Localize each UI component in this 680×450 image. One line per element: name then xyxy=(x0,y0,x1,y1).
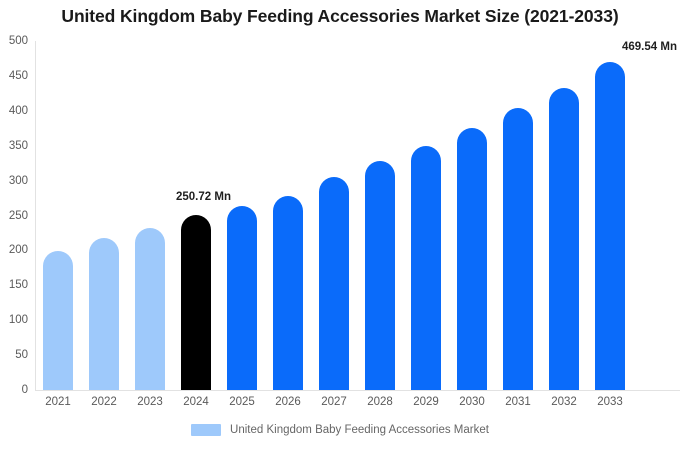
bar-2033[interactable] xyxy=(595,62,625,390)
y-tick-label: 100 xyxy=(0,314,28,326)
x-tick-label: 2022 xyxy=(81,396,127,408)
x-tick-label: 2033 xyxy=(587,396,633,408)
x-tick-label: 2032 xyxy=(541,396,587,408)
y-tick-label: 500 xyxy=(0,35,28,47)
legend-label: United Kingdom Baby Feeding Accessories … xyxy=(230,424,489,436)
bar-series: 2021202220232024202520262027202820292030… xyxy=(35,0,680,450)
bar-2028[interactable] xyxy=(365,161,395,390)
bar-group[interactable] xyxy=(35,0,81,390)
x-tick-label: 2021 xyxy=(35,396,81,408)
bar-2029[interactable] xyxy=(411,146,441,390)
bar-group[interactable] xyxy=(587,0,633,390)
bar-2032[interactable] xyxy=(549,88,579,390)
x-tick-label: 2028 xyxy=(357,396,403,408)
bar-2022[interactable] xyxy=(89,238,119,390)
legend-swatch-icon xyxy=(191,424,221,436)
bar-chart: United Kingdom Baby Feeding Accessories … xyxy=(0,0,680,450)
bar-group[interactable] xyxy=(403,0,449,390)
bar-group[interactable] xyxy=(357,0,403,390)
bar-2021[interactable] xyxy=(43,251,73,390)
x-tick-label: 2029 xyxy=(403,396,449,408)
bar-group[interactable] xyxy=(495,0,541,390)
x-tick-label: 2030 xyxy=(449,396,495,408)
bar-2027[interactable] xyxy=(319,177,349,390)
bar-group[interactable] xyxy=(127,0,173,390)
bar-2024[interactable] xyxy=(181,215,211,390)
y-tick-label: 350 xyxy=(0,140,28,152)
x-tick-label: 2024 xyxy=(173,396,219,408)
chart-legend: United Kingdom Baby Feeding Accessories … xyxy=(0,424,680,436)
bar-2025[interactable] xyxy=(227,206,257,390)
y-tick-label: 250 xyxy=(0,210,28,222)
y-tick-label: 450 xyxy=(0,70,28,82)
y-tick-label: 0 xyxy=(0,384,28,396)
base-year-value-label: 250.72 Mn xyxy=(176,191,231,203)
x-tick-label: 2027 xyxy=(311,396,357,408)
bar-2030[interactable] xyxy=(457,128,487,390)
bar-2031[interactable] xyxy=(503,108,533,390)
y-tick-label: 400 xyxy=(0,105,28,117)
x-tick-label: 2031 xyxy=(495,396,541,408)
x-tick-label: 2026 xyxy=(265,396,311,408)
bar-2026[interactable] xyxy=(273,196,303,390)
bar-2023[interactable] xyxy=(135,228,165,390)
bar-group[interactable] xyxy=(311,0,357,390)
y-tick-label: 300 xyxy=(0,175,28,187)
bar-group[interactable] xyxy=(81,0,127,390)
bar-group[interactable] xyxy=(449,0,495,390)
bar-group[interactable] xyxy=(541,0,587,390)
y-tick-label: 200 xyxy=(0,244,28,256)
y-tick-label: 150 xyxy=(0,279,28,291)
plot-area: 050100150200250300350400450500 202120222… xyxy=(0,0,680,450)
bar-group[interactable] xyxy=(265,0,311,390)
x-tick-label: 2025 xyxy=(219,396,265,408)
x-tick-label: 2023 xyxy=(127,396,173,408)
forecast-year-value-label: 469.54 Mn xyxy=(622,41,677,53)
y-tick-label: 50 xyxy=(0,349,28,361)
